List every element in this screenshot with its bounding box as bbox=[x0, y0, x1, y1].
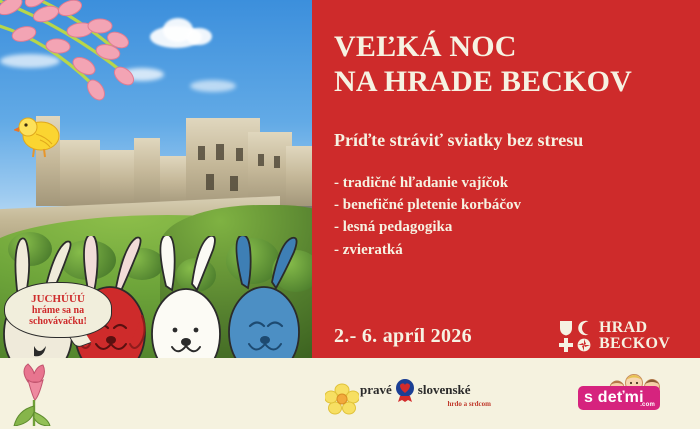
activity-list: - tradičné hľadanie vajíčok - benefičné … bbox=[334, 172, 674, 261]
heart-rosette-icon bbox=[394, 378, 416, 402]
event-date: 2.- 6. apríl 2026 bbox=[334, 325, 472, 348]
subheadline: Príďte stráviť sviatky bez stresu bbox=[334, 130, 689, 152]
cloud-icon bbox=[190, 80, 236, 92]
bubble-line-2: hráme sa na bbox=[32, 305, 84, 316]
easter-event-poster: VEĽKÁ NOC NA HRADE BECKOV Príďte stráviť… bbox=[0, 0, 700, 429]
s-detmi-domain: .com bbox=[640, 402, 655, 408]
red-text-panel: VEĽKÁ NOC NA HRADE BECKOV Príďte stráviť… bbox=[312, 0, 700, 358]
shield-icon bbox=[558, 320, 574, 336]
prave-slovenske-word1: pravé bbox=[360, 382, 392, 398]
crescent-moon-icon bbox=[576, 320, 592, 336]
list-item: - benefičné pletenie korbáčov bbox=[334, 194, 674, 216]
page-title: VEĽKÁ NOC NA HRADE BECKOV bbox=[334, 30, 684, 100]
list-item: - lesná pedagogika bbox=[334, 216, 674, 238]
logo-line-2: BECKOV bbox=[599, 336, 670, 352]
headline-line-1: VEĽKÁ NOC bbox=[334, 30, 684, 65]
prave-slovenske-tagline: hrdo a srdcom bbox=[360, 400, 495, 408]
list-item: - tradičné hľadanie vajíčok bbox=[334, 172, 674, 194]
logo-line-1: HRAD bbox=[599, 320, 670, 336]
prave-slovenske-word2: slovenské bbox=[418, 382, 471, 398]
hrad-beckov-wordmark: HRAD BECKOV bbox=[599, 320, 670, 353]
yellow-chick-icon bbox=[14, 112, 66, 160]
headline-line-2: NA HRADE BECKOV bbox=[334, 65, 684, 100]
s-detmi-logo[interactable]: s deťmi .com bbox=[578, 378, 670, 412]
bubble-line-3: schovávačku! bbox=[29, 316, 87, 327]
castle-ruin bbox=[60, 140, 100, 206]
bubble-line-1: JUCHÚÚÚ bbox=[31, 293, 85, 305]
cloud-icon bbox=[186, 28, 212, 45]
cross-icon bbox=[558, 337, 574, 353]
s-detmi-label: s deťmi bbox=[584, 389, 644, 407]
castle-ruin bbox=[134, 138, 160, 206]
prave-slovenske-logo[interactable]: pravé slovenské hrdo a srdcom bbox=[360, 378, 495, 408]
cloud-icon bbox=[0, 54, 60, 68]
rose-icon bbox=[576, 337, 592, 353]
yellow-daffodil-icon bbox=[325, 383, 359, 415]
s-detmi-wordmark: s deťmi .com bbox=[578, 386, 660, 410]
hrad-beckov-glyph-grid bbox=[558, 320, 592, 352]
speech-bubble: JUCHÚÚÚ hráme sa na schovávačku! bbox=[4, 282, 112, 338]
cloud-icon bbox=[120, 68, 164, 81]
castle-ruin bbox=[286, 146, 314, 206]
hrad-beckov-logo: HRAD BECKOV bbox=[558, 316, 688, 356]
list-item: - zvieratká bbox=[334, 239, 674, 261]
pink-tulip-icon bbox=[6, 360, 58, 426]
